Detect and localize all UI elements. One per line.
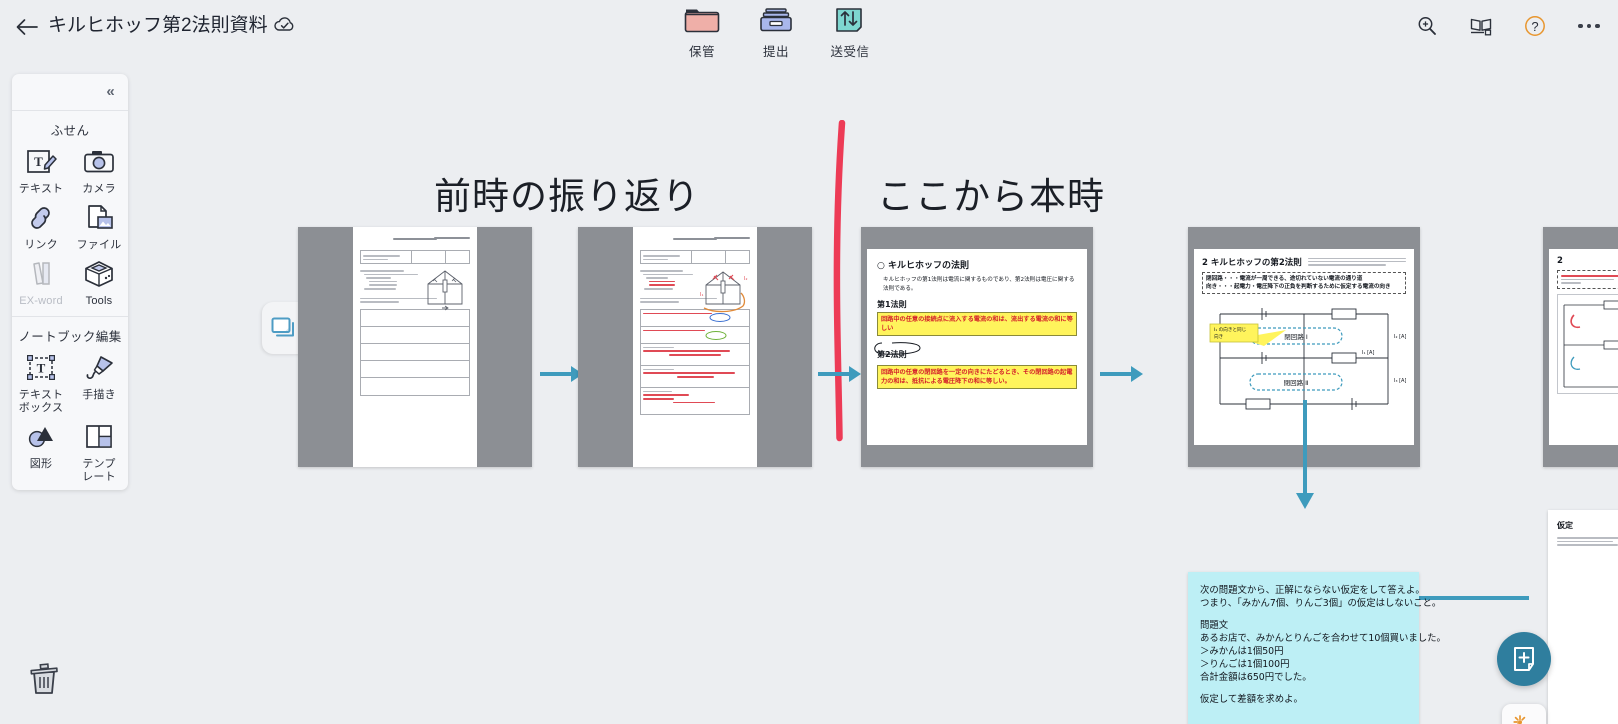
tool-label: 保管	[660, 41, 744, 60]
svg-text:I₁ [A]: I₁ [A]	[1362, 350, 1374, 356]
card3-law1-text: 回路中の任意の接続点に流入する電流の和は、流出する電流の和に等しい	[877, 312, 1077, 336]
note-line: 仮定して差額を求めよ。	[1200, 693, 1407, 706]
note-line: ＞りんごは1個100円	[1200, 658, 1407, 671]
add-page-fab[interactable]	[1497, 632, 1551, 686]
card-kirchhoff-laws[interactable]: ○ キルヒホッフの法則 キルヒホッフの第1法則は電流に関するものであり、第2法則…	[861, 227, 1093, 467]
connector-vertical-line	[1303, 400, 1307, 500]
tool-hokan-button[interactable]: 保管	[660, 4, 744, 60]
magic-wand-button[interactable]	[1502, 704, 1546, 724]
tool-label: 送受信	[808, 41, 892, 60]
page-title: キルヒホッフ第2法則資料	[48, 12, 268, 40]
note-line: 問題文	[1200, 619, 1407, 632]
tool-label: 提出	[734, 41, 818, 60]
card-worksheet-marked[interactable]: I₁ I₂	[578, 227, 812, 467]
card-partial-bottom-right[interactable]: 仮定	[1548, 510, 1618, 724]
note-line: つまり、「みかん7個、りんご3個」の仮定はしないこと。	[1200, 597, 1407, 610]
svg-text:I₁ の向きと同じ: I₁ の向きと同じ	[1214, 326, 1247, 333]
svg-text:I₂: I₂	[744, 276, 747, 282]
page-stack-icon	[270, 316, 296, 340]
app-window: キルヒホッフ第2法則資料 保管	[0, 0, 1618, 724]
svg-text:I₁: I₁	[700, 292, 703, 298]
svg-text:?: ?	[1531, 19, 1538, 34]
tool-teishutsu-button[interactable]: 提出	[734, 4, 818, 60]
svg-text:閉回路 Ⅰ: 閉回路 Ⅰ	[1284, 332, 1308, 341]
cyan-sticky-note[interactable]: 次の問題文から、正解にならない仮定をして答えよ。 つまり、「みかん7個、りんご3…	[1188, 572, 1419, 724]
back-arrow-icon	[15, 18, 39, 36]
cloud-sync-check-icon	[272, 14, 298, 38]
card5-heading: 2	[1557, 256, 1618, 266]
card4-line1: 閉回路・・・電流が一周できる、途切れていない電流の通り道	[1206, 275, 1402, 283]
note-line: 次の問題文から、正解にならない仮定をして答えよ。	[1200, 584, 1407, 597]
card6-heading: 仮定	[1557, 520, 1618, 531]
svg-text:閉回路 Ⅱ: 閉回路 Ⅱ	[1284, 378, 1309, 387]
card3-law2-text: 回路中の任意の閉回路を一定の向きにたどるとき、その閉回路の起電力の和は、抵抗によ…	[877, 365, 1077, 389]
connector-down-arrow	[1294, 489, 1316, 520]
folder-icon	[660, 4, 744, 38]
connector-arrow-3	[1100, 362, 1144, 391]
header-actions: ?	[1412, 10, 1604, 42]
heading-review: 前時の振り返り	[434, 166, 700, 220]
card-partial-right[interactable]: 2	[1543, 227, 1618, 467]
send-receive-icon	[808, 4, 892, 38]
heading-today: ここから本時	[877, 166, 1105, 220]
book-view-icon[interactable]	[1466, 11, 1496, 41]
card4-heading: 2 キルヒホッフの第2法則	[1202, 256, 1302, 268]
card-worksheet-blank[interactable]	[298, 227, 532, 467]
card3-heading: ○ キルヒホッフの法則	[877, 258, 1077, 271]
circuit-diagram-large: 閉回路 Ⅰ 閉回路 Ⅱ I₁ の向きと同じ 向き I₁ [A] I₂ [A] I…	[1202, 298, 1406, 416]
add-page-icon	[1512, 646, 1536, 672]
circuit-diagram-thumb	[420, 268, 470, 314]
connector-arrow-2	[818, 362, 862, 391]
note-line: ＞みかんは1個50円	[1200, 645, 1407, 658]
main-tool-group: 保管 提出	[660, 4, 940, 62]
inbox-tray-icon	[734, 4, 818, 38]
hand-circle-annotation	[872, 341, 926, 357]
card4-line2: 向き・・・起電力・電圧降下の正負を判断するために仮定する電流の向き	[1206, 283, 1402, 291]
svg-text:向き: 向き	[1214, 333, 1223, 340]
back-button[interactable]	[12, 12, 42, 42]
circuit-diagram-annotated-thumb: I₁ I₂	[694, 266, 752, 316]
card3-intro: キルヒホッフの第1法則は電流に関するものであり、第2法則は電圧に関する法則である…	[877, 276, 1077, 294]
svg-text:I₃ [A]: I₃ [A]	[1394, 378, 1406, 384]
red-hand-drawn-divider	[833, 120, 847, 442]
help-icon[interactable]: ?	[1520, 11, 1550, 41]
canvas-area[interactable]: 前時の振り返り ここから本時	[0, 62, 1618, 724]
tool-soujushin-button[interactable]: 送受信	[808, 4, 892, 60]
note-line: 合計金額は650円でした。	[1200, 671, 1407, 684]
card3-law1-title: 第1法則	[877, 299, 1077, 310]
zoom-in-icon[interactable]	[1412, 11, 1442, 41]
top-bar: キルヒホッフ第2法則資料 保管	[0, 0, 1618, 62]
svg-text:I₂ [A]: I₂ [A]	[1394, 334, 1406, 340]
magic-wand-icon	[1511, 713, 1537, 724]
more-icon[interactable]	[1574, 11, 1604, 41]
note-line: あるお店で、みかんとりんごを合わせて10個買いました。	[1200, 632, 1407, 645]
